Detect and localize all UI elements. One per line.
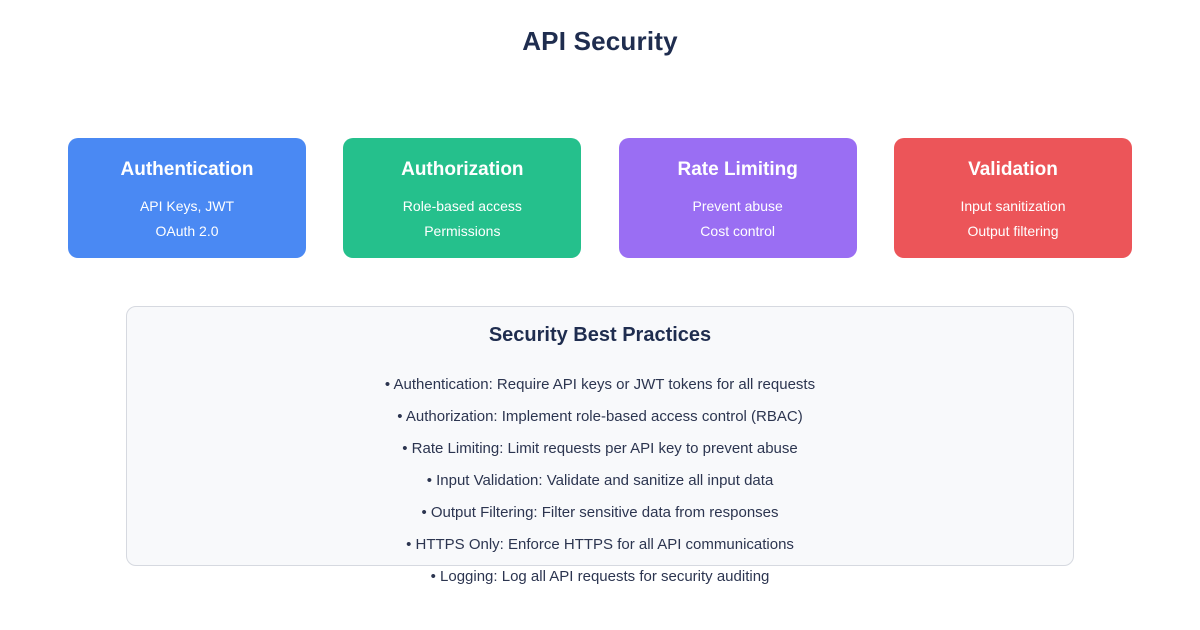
pillar-card-rate-limiting: Rate Limiting Prevent abuse Cost control bbox=[619, 138, 857, 258]
best-practice-item: • Rate Limiting: Limit requests per API … bbox=[127, 433, 1073, 465]
pillar-card-detail: Cost control bbox=[619, 219, 857, 244]
best-practices-list: • Authentication: Require API keys or JW… bbox=[127, 369, 1073, 593]
best-practice-item: • Authentication: Require API keys or JW… bbox=[127, 369, 1073, 401]
best-practice-item: • Output Filtering: Filter sensitive dat… bbox=[127, 497, 1073, 529]
pillar-card-title: Authentication bbox=[68, 159, 306, 181]
best-practice-item: • Logging: Log all API requests for secu… bbox=[127, 561, 1073, 593]
security-pillar-row: Authentication API Keys, JWT OAuth 2.0 A… bbox=[68, 138, 1132, 258]
pillar-card-detail: OAuth 2.0 bbox=[68, 219, 306, 244]
pillar-card-detail: Prevent abuse bbox=[619, 194, 857, 219]
pillar-card-title: Rate Limiting bbox=[619, 159, 857, 181]
pillar-card-detail: API Keys, JWT bbox=[68, 194, 306, 219]
security-best-practices-panel: Security Best Practices • Authentication… bbox=[126, 306, 1074, 566]
pillar-card-detail: Role-based access bbox=[343, 194, 581, 219]
pillar-card-authorization: Authorization Role-based access Permissi… bbox=[343, 138, 581, 258]
best-practice-item: • Authorization: Implement role-based ac… bbox=[127, 401, 1073, 433]
best-practice-item: • HTTPS Only: Enforce HTTPS for all API … bbox=[127, 529, 1073, 561]
pillar-card-title: Validation bbox=[894, 159, 1132, 181]
pillar-card-title: Authorization bbox=[343, 159, 581, 181]
pillar-card-detail: Input sanitization bbox=[894, 194, 1132, 219]
page-title: API Security bbox=[0, 26, 1200, 57]
best-practices-title: Security Best Practices bbox=[127, 322, 1073, 348]
best-practice-item: • Input Validation: Validate and sanitiz… bbox=[127, 465, 1073, 497]
pillar-card-detail: Output filtering bbox=[894, 219, 1132, 244]
pillar-card-authentication: Authentication API Keys, JWT OAuth 2.0 bbox=[68, 138, 306, 258]
pillar-card-detail: Permissions bbox=[343, 219, 581, 244]
api-security-infographic: API Security Authentication API Keys, JW… bbox=[0, 0, 1200, 630]
pillar-card-validation: Validation Input sanitization Output fil… bbox=[894, 138, 1132, 258]
